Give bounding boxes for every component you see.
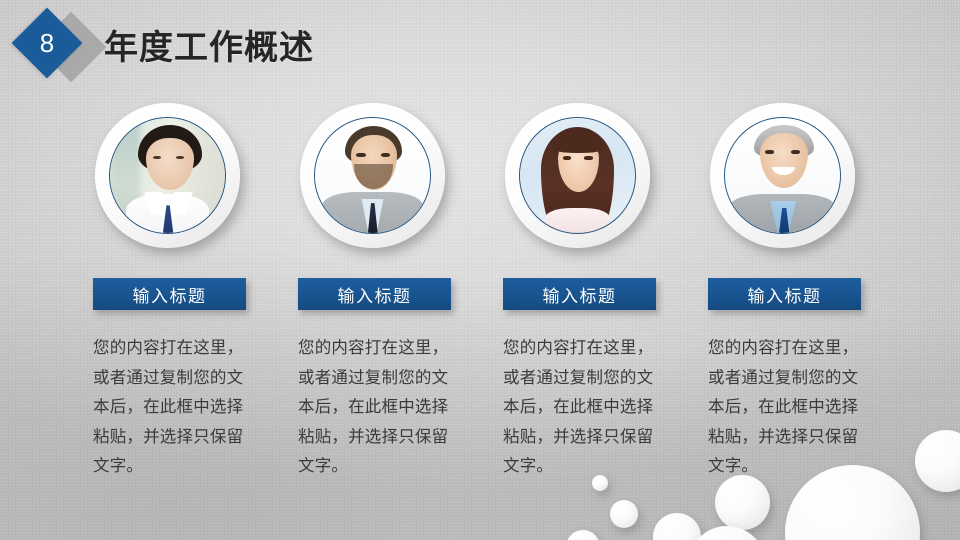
photo-frame-1[interactable] <box>95 103 240 248</box>
content-column-4: 输入标题 您的内容打在这里，或者通过复制您的文本后，在此框中选择粘贴，并选择只保… <box>685 0 890 540</box>
photo-frame-2[interactable] <box>300 103 445 248</box>
portrait-photo-3 <box>519 117 636 234</box>
photo-frame-3[interactable] <box>505 103 650 248</box>
title-bar-label-3: 输入标题 <box>543 282 617 307</box>
content-column-1: 输入标题 您的内容打在这里，或者通过复制您的文本后，在此框中选择粘贴，并选择只保… <box>70 0 275 540</box>
body-text-1: 您的内容打在这里，或者通过复制您的文本后，在此框中选择粘贴，并选择只保留文字。 <box>93 334 258 482</box>
body-text-3: 您的内容打在这里，或者通过复制您的文本后，在此框中选择粘贴，并选择只保留文字。 <box>503 334 668 482</box>
portrait-photo-2 <box>314 117 431 234</box>
page-number-badge: 8 <box>22 18 72 68</box>
body-text-2: 您的内容打在这里，或者通过复制您的文本后，在此框中选择粘贴，并选择只保留文字。 <box>298 334 463 482</box>
title-bar-label-4: 输入标题 <box>748 282 822 307</box>
body-text-4: 您的内容打在这里，或者通过复制您的文本后，在此框中选择粘贴，并选择只保留文字。 <box>708 334 873 482</box>
title-bar-label-2: 输入标题 <box>338 282 412 307</box>
decorative-circle-medium <box>915 430 960 492</box>
title-bar-2[interactable]: 输入标题 <box>298 278 451 310</box>
portrait-photo-4 <box>724 117 841 234</box>
title-bar-3[interactable]: 输入标题 <box>503 278 656 310</box>
portrait-photo-1 <box>109 117 226 234</box>
content-column-2: 输入标题 您的内容打在这里，或者通过复制您的文本后，在此框中选择粘贴，并选择只保… <box>275 0 480 540</box>
content-column-3: 输入标题 您的内容打在这里，或者通过复制您的文本后，在此框中选择粘贴，并选择只保… <box>480 0 685 540</box>
title-bar-label-1: 输入标题 <box>133 282 207 307</box>
title-bar-1[interactable]: 输入标题 <box>93 278 246 310</box>
title-bar-4[interactable]: 输入标题 <box>708 278 861 310</box>
photo-frame-4[interactable] <box>710 103 855 248</box>
slide-canvas: 8 年度工作概述 输入标题 您的内容打在这里，或者通过复制您的文本后，在此框中选… <box>0 0 960 540</box>
